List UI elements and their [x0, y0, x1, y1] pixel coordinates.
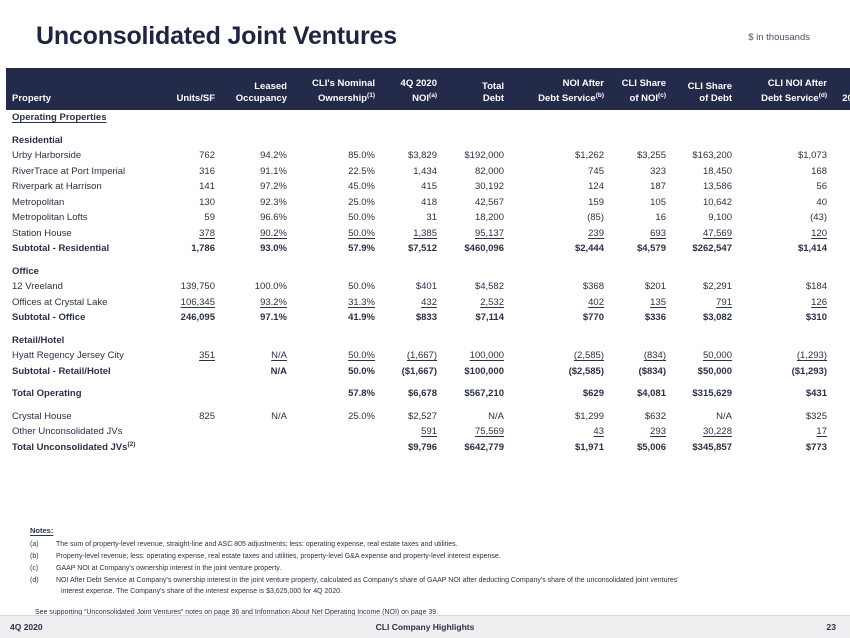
cell-noids: $629 — [510, 386, 610, 402]
cell-noi: 591 — [381, 424, 443, 440]
cell-noi: 418 — [381, 195, 443, 211]
cell-shnoi: $201 — [610, 279, 672, 295]
cell-debt: 42,567 — [443, 195, 510, 211]
financial-table-container: PropertyUnits/SFLeasedOccupancyCLI's Nom… — [6, 68, 845, 455]
note-item: (d)NOI After Debt Service at Company's o… — [30, 575, 830, 598]
cell-ffo: $325 — [833, 409, 850, 425]
cell-shdebt: 13,586 — [672, 179, 738, 195]
column-header-property: Property — [6, 68, 164, 110]
cell-occupancy: 97.1% — [221, 310, 293, 326]
note-text: NOI After Debt Service at Company's owne… — [56, 575, 830, 598]
cell-ownership: 25.0% — [293, 195, 381, 211]
column-header-ownership: CLI's NominalOwnership(1) — [293, 68, 381, 110]
cell-shdebt: $50,000 — [672, 364, 738, 380]
cell-ffo: (123) — [833, 195, 850, 211]
cell-debt: 18,200 — [443, 210, 510, 226]
cell-ownership: 25.0% — [293, 409, 381, 425]
cell-shdebt: 9,100 — [672, 210, 738, 226]
property-row: Hyatt Regency Jersey City351N/A50.0%(1,6… — [6, 348, 850, 364]
cell-property: Urby Harborside — [6, 148, 164, 164]
cell-occupancy: 93.0% — [221, 241, 293, 257]
cell-ffo: $1,738 — [833, 386, 850, 402]
cell-shdebt: $163,200 — [672, 148, 738, 164]
cell-shdebt: $262,547 — [672, 241, 738, 257]
row-spacer-after-group — [6, 326, 850, 333]
cell-shnoi: $4,579 — [610, 241, 672, 257]
cell-property: Subtotal - Retail/Hotel — [6, 364, 164, 380]
property-row: Other Unconsolidated JVs59175,5694329330… — [6, 424, 850, 440]
cell-ownership — [293, 424, 381, 440]
cell-clinoids: $325 — [738, 409, 833, 425]
column-header-ffo: CLI 4Q2020 FFO — [833, 68, 850, 110]
cell-shdebt: $2,291 — [672, 279, 738, 295]
cell-ownership: 50.0% — [293, 364, 381, 380]
cell-property: Riverpark at Harrison — [6, 179, 164, 195]
row-spacer-after-section-label — [6, 126, 850, 133]
cell-occupancy: 91.1% — [221, 164, 293, 180]
section-label-operating-properties: Operating Properties — [6, 110, 850, 126]
cell-occupancy: 93.2% — [221, 295, 293, 311]
property-row: Urby Harborside76294.2%85.0%$3,829$192,0… — [6, 148, 850, 164]
note-item: (a)The sum of property-level revenue, st… — [30, 539, 830, 551]
cell-noi: $3,829 — [381, 148, 443, 164]
cell-shnoi: 323 — [610, 164, 672, 180]
cell-noids: 239 — [510, 226, 610, 242]
note-text-continuation: interest expense. The Company's share of… — [56, 586, 830, 598]
cell-property: Subtotal - Office — [6, 310, 164, 326]
cell-shdebt: $3,082 — [672, 310, 738, 326]
cell-noi: (1,667) — [381, 348, 443, 364]
note-text: Property-level revenue; less: operating … — [56, 551, 830, 563]
cell-ownership: 57.8% — [293, 386, 381, 402]
cell-ownership: 41.9% — [293, 310, 381, 326]
column-header-occupancy: LeasedOccupancy — [221, 68, 293, 110]
cell-shdebt: $315,629 — [672, 386, 738, 402]
cell-noids: $368 — [510, 279, 610, 295]
cell-noids: $770 — [510, 310, 610, 326]
property-row: 12 Vreeland139,750100.0%50.0%$401$4,582$… — [6, 279, 850, 295]
cell-ownership: 50.0% — [293, 210, 381, 226]
cell-ownership: 85.0% — [293, 148, 381, 164]
column-header-clinoids: CLI NOI AfterDebt Service(d) — [738, 68, 833, 110]
row-spacer-after-group — [6, 379, 850, 386]
cell-shnoi: $4,081 — [610, 386, 672, 402]
cell-noi: ($1,667) — [381, 364, 443, 380]
cell-noi: $401 — [381, 279, 443, 295]
cell-shdebt: N/A — [672, 409, 738, 425]
cell-ownership: 31.3% — [293, 295, 381, 311]
note-item: (b)Property-level revenue; less: operati… — [30, 551, 830, 563]
cell-shnoi: 16 — [610, 210, 672, 226]
cell-units — [164, 440, 221, 456]
cell-property: Hyatt Regency Jersey City — [6, 348, 164, 364]
column-header-units: Units/SF — [164, 68, 221, 110]
cell-occupancy — [221, 424, 293, 440]
cell-ffo: (22) — [833, 424, 850, 440]
cell-ownership — [293, 440, 381, 456]
property-row: Metropolitan Lofts5996.6%50.0%3118,200(8… — [6, 210, 850, 226]
spacer-cell — [6, 326, 850, 333]
cell-noi: $9,796 — [381, 440, 443, 456]
cell-ffo: 263 — [833, 348, 850, 364]
cell-shnoi: $632 — [610, 409, 672, 425]
unconsolidated-joint-ventures-table: PropertyUnits/SFLeasedOccupancyCLI's Nom… — [6, 68, 850, 455]
cell-clinoids: 56 — [738, 179, 833, 195]
page-title: Unconsolidated Joint Ventures — [36, 22, 397, 51]
cell-shnoi: ($834) — [610, 364, 672, 380]
cell-noids: 402 — [510, 295, 610, 311]
cell-occupancy: 97.2% — [221, 179, 293, 195]
cell-noi: $6,678 — [381, 386, 443, 402]
cell-clinoids: 40 — [738, 195, 833, 211]
cell-ownership: 57.9% — [293, 241, 381, 257]
cell-clinoids: $773 — [738, 440, 833, 456]
cell-noids: ($2,585) — [510, 364, 610, 380]
footer-document-title: CLI Company Highlights — [0, 622, 850, 632]
cell-shnoi: 293 — [610, 424, 672, 440]
group-label: Retail/Hotel — [6, 333, 850, 349]
property-row: RiverTrace at Port Imperial31691.1%22.5%… — [6, 164, 850, 180]
cell-clinoids: ($1,293) — [738, 364, 833, 380]
spacer-cell — [6, 402, 850, 409]
cell-property: Total Unconsolidated JVs(2) — [6, 440, 164, 456]
page-footer: 4Q 2020 CLI Company Highlights 23 — [0, 615, 850, 638]
property-row: Station House37890.2%50.0%1,38595,137239… — [6, 226, 850, 242]
cell-clinoids: 168 — [738, 164, 833, 180]
cell-units: 1,786 — [164, 241, 221, 257]
cell-shdebt: 47,569 — [672, 226, 738, 242]
cell-property: Metropolitan — [6, 195, 164, 211]
cell-ffo: $305 — [833, 310, 850, 326]
cell-noids: 43 — [510, 424, 610, 440]
cell-noids: 124 — [510, 179, 610, 195]
cell-ffo: 20 — [833, 179, 850, 195]
cell-noids: $1,262 — [510, 148, 610, 164]
cell-debt: $460,096 — [443, 241, 510, 257]
cell-ffo: $180 — [833, 279, 850, 295]
property-row: Riverpark at Harrison14197.2%45.0%41530,… — [6, 179, 850, 195]
cell-ownership: 50.0% — [293, 226, 381, 242]
cell-noi: $833 — [381, 310, 443, 326]
cell-shnoi: 187 — [610, 179, 672, 195]
cell-ownership: 22.5% — [293, 164, 381, 180]
property-row: Offices at Crystal Lake106,34593.2%31.3%… — [6, 295, 850, 311]
cell-noi: $2,527 — [381, 409, 443, 425]
cell-property: 12 Vreeland — [6, 279, 164, 295]
cell-units: 130 — [164, 195, 221, 211]
cell-clinoids: $1,073 — [738, 148, 833, 164]
cell-clinoids: 120 — [738, 226, 833, 242]
subtotal-row: Subtotal - Retail/HotelN/A50.0%($1,667)$… — [6, 364, 850, 380]
cell-noi: 432 — [381, 295, 443, 311]
cell-units: 59 — [164, 210, 221, 226]
notes-section: Notes: (a)The sum of property-level reve… — [30, 525, 830, 618]
group-label: Office — [6, 264, 850, 280]
cell-shdebt: 791 — [672, 295, 738, 311]
cell-ownership: 50.0% — [293, 348, 381, 364]
cell-property: Offices at Crystal Lake — [6, 295, 164, 311]
cell-units: 139,750 — [164, 279, 221, 295]
column-header-debt: TotalDebt — [443, 68, 510, 110]
table-header: PropertyUnits/SFLeasedOccupancyCLI's Nom… — [6, 68, 850, 110]
cell-ffo: $1,046 — [833, 148, 850, 164]
cell-units: 825 — [164, 409, 221, 425]
cell-shnoi: $3,255 — [610, 148, 672, 164]
cell-noids: 745 — [510, 164, 610, 180]
row-spacer-after-group — [6, 257, 850, 264]
row-spacer-after-total-operating — [6, 402, 850, 409]
cell-debt: $567,210 — [443, 386, 510, 402]
cell-units: 246,095 — [164, 310, 221, 326]
cell-ownership: 50.0% — [293, 279, 381, 295]
cell-units — [164, 386, 221, 402]
cell-ffo: $1,170 — [833, 241, 850, 257]
cell-units: 378 — [164, 226, 221, 242]
spacer-cell — [6, 126, 850, 133]
cell-clinoids: (43) — [738, 210, 833, 226]
cell-units: 316 — [164, 164, 221, 180]
cell-occupancy: 94.2% — [221, 148, 293, 164]
cell-units: 351 — [164, 348, 221, 364]
note-key: (d) — [30, 575, 56, 598]
cell-units — [164, 364, 221, 380]
column-header-noids: NOI AfterDebt Service(b) — [510, 68, 610, 110]
cell-shnoi: $336 — [610, 310, 672, 326]
cell-units — [164, 424, 221, 440]
column-header-shdebt: CLI Shareof Debt — [672, 68, 738, 110]
cell-clinoids: $431 — [738, 386, 833, 402]
cell-occupancy: N/A — [221, 348, 293, 364]
cell-noi: 31 — [381, 210, 443, 226]
cell-shdebt: $345,857 — [672, 440, 738, 456]
subtotal-row: Subtotal - Office246,09597.1%41.9%$833$7… — [6, 310, 850, 326]
cell-noi: $7,512 — [381, 241, 443, 257]
note-text: The sum of property-level revenue, strai… — [56, 539, 830, 551]
cell-noi: 1,385 — [381, 226, 443, 242]
cell-ffo: $263 — [833, 364, 850, 380]
section-label-row: Operating Properties — [6, 110, 850, 126]
cell-shnoi: (834) — [610, 348, 672, 364]
cell-shnoi: 135 — [610, 295, 672, 311]
cell-shnoi: 693 — [610, 226, 672, 242]
cell-debt: $192,000 — [443, 148, 510, 164]
property-row: Metropolitan13092.3%25.0%41842,567159105… — [6, 195, 850, 211]
cell-noids: (2,585) — [510, 348, 610, 364]
cell-shdebt: 18,450 — [672, 164, 738, 180]
cell-noi: 1,434 — [381, 164, 443, 180]
cell-shnoi: $5,006 — [610, 440, 672, 456]
spacer-cell — [6, 379, 850, 386]
cell-occupancy: 90.2% — [221, 226, 293, 242]
cell-clinoids: $184 — [738, 279, 833, 295]
cell-property: Subtotal - Residential — [6, 241, 164, 257]
units-note: $ in thousands — [748, 32, 810, 43]
column-header-noi: 4Q 2020NOI(a) — [381, 68, 443, 110]
cell-shdebt: 10,642 — [672, 195, 738, 211]
cell-debt: 100,000 — [443, 348, 510, 364]
cell-debt: $7,114 — [443, 310, 510, 326]
cell-noids: (85) — [510, 210, 610, 226]
cell-clinoids: 17 — [738, 424, 833, 440]
grand-total-row: Total Unconsolidated JVs(2)$9,796$642,77… — [6, 440, 850, 456]
cell-occupancy: 100.0% — [221, 279, 293, 295]
group-heading-residential: Residential — [6, 133, 850, 149]
group-heading-retail-hotel: Retail/Hotel — [6, 333, 850, 349]
cell-shdebt: 50,000 — [672, 348, 738, 364]
group-label: Residential — [6, 133, 850, 149]
table-body: Operating PropertiesResidentialUrby Harb… — [6, 110, 850, 455]
cell-noi: 415 — [381, 179, 443, 195]
cell-ffo: 171 — [833, 164, 850, 180]
cell-ownership: 45.0% — [293, 179, 381, 195]
cell-clinoids: $310 — [738, 310, 833, 326]
cell-noids: 159 — [510, 195, 610, 211]
cell-occupancy: N/A — [221, 364, 293, 380]
cell-ffo: $2,041 — [833, 440, 850, 456]
cell-debt: 82,000 — [443, 164, 510, 180]
cell-debt: 2,532 — [443, 295, 510, 311]
cell-debt: $100,000 — [443, 364, 510, 380]
notes-title: Notes: — [30, 525, 830, 537]
note-key: (b) — [30, 551, 56, 563]
cell-noids: $2,444 — [510, 241, 610, 257]
cell-shdebt: 30,228 — [672, 424, 738, 440]
note-key: (c) — [30, 563, 56, 575]
cell-clinoids: $1,414 — [738, 241, 833, 257]
cell-ffo: (45) — [833, 210, 850, 226]
cell-property: Crystal House — [6, 409, 164, 425]
cell-noids: $1,299 — [510, 409, 610, 425]
column-header-shnoi: CLI Shareof NOI(c) — [610, 68, 672, 110]
cell-debt: 30,192 — [443, 179, 510, 195]
cell-property: RiverTrace at Port Imperial — [6, 164, 164, 180]
group-heading-office: Office — [6, 264, 850, 280]
note-item: (c)GAAP NOI at Company's ownership inter… — [30, 563, 830, 575]
spacer-cell — [6, 257, 850, 264]
cell-units: 141 — [164, 179, 221, 195]
cell-property: Total Operating — [6, 386, 164, 402]
cell-clinoids: 126 — [738, 295, 833, 311]
note-key: (a) — [30, 539, 56, 551]
cell-property: Other Unconsolidated JVs — [6, 424, 164, 440]
cell-debt: 75,569 — [443, 424, 510, 440]
cell-occupancy — [221, 440, 293, 456]
cell-clinoids: (1,293) — [738, 348, 833, 364]
cell-occupancy: 96.6% — [221, 210, 293, 226]
cell-occupancy: N/A — [221, 409, 293, 425]
subtotal-row: Subtotal - Residential1,78693.0%57.9%$7,… — [6, 241, 850, 257]
footer-page-number: 23 — [827, 622, 836, 632]
cell-units: 762 — [164, 148, 221, 164]
cell-debt: $4,582 — [443, 279, 510, 295]
cell-noids: $1,971 — [510, 440, 610, 456]
cell-debt: $642,779 — [443, 440, 510, 456]
cell-ffo: 101 — [833, 226, 850, 242]
cell-debt: N/A — [443, 409, 510, 425]
cell-ffo: 125 — [833, 295, 850, 311]
cell-occupancy — [221, 386, 293, 402]
cell-units: 106,345 — [164, 295, 221, 311]
cell-shnoi: 105 — [610, 195, 672, 211]
property-row: Crystal House825N/A25.0%$2,527N/A$1,299$… — [6, 409, 850, 425]
note-text: GAAP NOI at Company's ownership interest… — [56, 563, 830, 575]
total-operating-row: Total Operating57.8%$6,678$567,210$629$4… — [6, 386, 850, 402]
cell-debt: 95,137 — [443, 226, 510, 242]
cell-occupancy: 92.3% — [221, 195, 293, 211]
cell-property: Metropolitan Lofts — [6, 210, 164, 226]
cell-property: Station House — [6, 226, 164, 242]
